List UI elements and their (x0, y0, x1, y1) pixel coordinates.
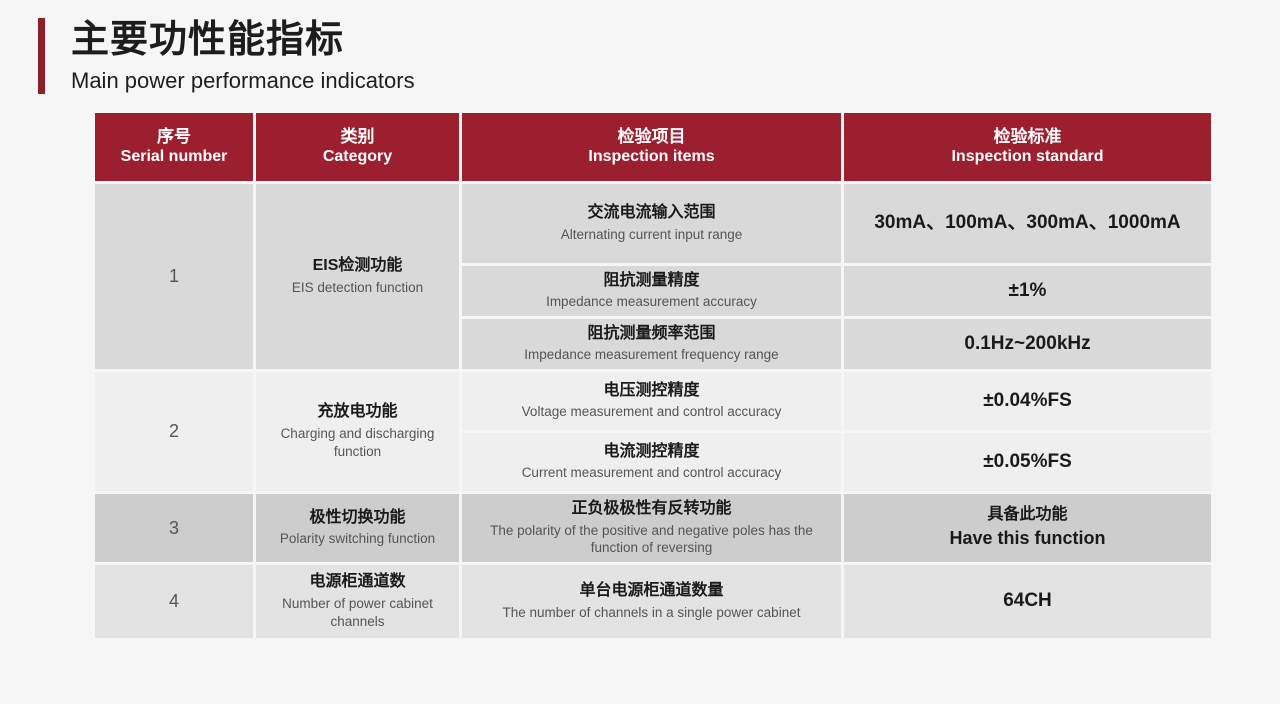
cell-category: EIS检测功能EIS detection function (256, 184, 459, 369)
table-row: 1EIS检测功能EIS detection function交流电流输入范围Al… (95, 184, 1205, 369)
column-header-items-cn: 检验项目 (618, 126, 686, 147)
cell-inspection-standard: 30mA、100mA、300mA、1000mA (844, 184, 1211, 263)
cell-category: 充放电功能Charging and discharging function (256, 372, 459, 491)
indicators-table: 序号 Serial number 类别 Category 检验项目 Inspec… (95, 113, 1205, 638)
table-subrow: 电压测控精度Voltage measurement and control ac… (462, 372, 1211, 430)
cell-standard-value: 30mA、100mA、300mA、1000mA (874, 211, 1180, 236)
cell-category-en: Charging and discharging function (266, 425, 449, 461)
cell-category-en: EIS detection function (292, 279, 423, 297)
cell-serial: 2 (95, 372, 253, 491)
cell-serial: 1 (95, 184, 253, 369)
cell-standard-en: Have this function (949, 527, 1105, 550)
cell-serial: 3 (95, 494, 253, 562)
cell-inspection-item: 电流测控精度Current measurement and control ac… (462, 433, 841, 491)
column-header-standard-cn: 检验标准 (994, 126, 1062, 147)
cell-inspection-item-en: The polarity of the positive and negativ… (472, 522, 831, 558)
cell-inspection-item-en: The number of channels in a single power… (503, 604, 801, 622)
table-row: 4电源柜通道数Number of power cabinet channels单… (95, 565, 1205, 638)
cell-inspection-item-cn: 正负极极性有反转功能 (571, 499, 731, 520)
cell-serial: 4 (95, 565, 253, 638)
cell-inspection-item-cn: 电压测控精度 (603, 381, 699, 402)
cell-category-cn: EIS检测功能 (313, 256, 403, 277)
column-header-category-cn: 类别 (341, 126, 375, 147)
column-header-items-en: Inspection items (588, 147, 714, 168)
cell-inspection-item-en: Voltage measurement and control accuracy (522, 403, 782, 421)
cell-standard-value: ±0.04%FS (983, 389, 1072, 414)
row-subgroup: 交流电流输入范围Alternating current input range3… (462, 184, 1211, 369)
cell-inspection-standard: ±0.05%FS (844, 433, 1211, 491)
column-header-items: 检验项目 Inspection items (462, 113, 841, 181)
table-row: 2充放电功能Charging and discharging function电… (95, 372, 1205, 491)
table-subrow: 阻抗测量频率范围Impedance measurement frequency … (462, 319, 1211, 369)
cell-inspection-item-en: Alternating current input range (561, 226, 743, 244)
table-subrow: 正负极极性有反转功能The polarity of the positive a… (462, 494, 1211, 562)
cell-inspection-standard: ±0.04%FS (844, 372, 1211, 430)
column-header-standard: 检验标准 Inspection standard (844, 113, 1211, 181)
table-subrow: 单台电源柜通道数量The number of channels in a sin… (462, 565, 1211, 638)
row-subgroup: 正负极极性有反转功能The polarity of the positive a… (462, 494, 1211, 562)
page-title: 主要功性能指标 (71, 18, 415, 63)
cell-inspection-item-cn: 电流测控精度 (603, 442, 699, 463)
cell-inspection-item-en: Impedance measurement frequency range (524, 346, 778, 364)
column-header-standard-en: Inspection standard (951, 147, 1103, 168)
row-subgroup: 电压测控精度Voltage measurement and control ac… (462, 372, 1211, 491)
cell-inspection-standard: ±1% (844, 266, 1211, 316)
cell-inspection-item-en: Impedance measurement accuracy (546, 293, 757, 311)
cell-inspection-item: 阻抗测量频率范围Impedance measurement frequency … (462, 319, 841, 369)
cell-category-cn: 极性切换功能 (309, 508, 405, 529)
cell-inspection-standard: 具备此功能Have this function (844, 494, 1211, 562)
column-header-serial: 序号 Serial number (95, 113, 253, 181)
cell-standard-value: 64CH (1003, 589, 1052, 614)
cell-inspection-item-cn: 交流电流输入范围 (587, 203, 715, 224)
cell-inspection-item: 交流电流输入范围Alternating current input range (462, 184, 841, 263)
cell-category: 电源柜通道数Number of power cabinet channels (256, 565, 459, 638)
column-header-serial-en: Serial number (121, 147, 228, 168)
title-texts: 主要功性能指标 Main power performance indicator… (71, 18, 415, 94)
cell-inspection-item: 电压测控精度Voltage measurement and control ac… (462, 372, 841, 430)
cell-inspection-item: 单台电源柜通道数量The number of channels in a sin… (462, 565, 841, 638)
cell-inspection-item: 阻抗测量精度Impedance measurement accuracy (462, 266, 841, 316)
page-title-block: 主要功性能指标 Main power performance indicator… (38, 18, 415, 94)
cell-inspection-standard: 64CH (844, 565, 1211, 638)
row-subgroup: 单台电源柜通道数量The number of channels in a sin… (462, 565, 1211, 638)
cell-standard-cn: 具备此功能 (987, 505, 1067, 526)
column-header-category: 类别 Category (256, 113, 459, 181)
cell-inspection-standard: 0.1Hz~200kHz (844, 319, 1211, 369)
slide-root: 主要功性能指标 Main power performance indicator… (0, 0, 1280, 704)
cell-category-cn: 充放电功能 (317, 402, 397, 423)
table-row: 3极性切换功能Polarity switching function正负极极性有… (95, 494, 1205, 562)
column-header-category-en: Category (323, 147, 392, 168)
cell-inspection-item-en: Current measurement and control accuracy (522, 464, 782, 482)
cell-category-en: Polarity switching function (280, 530, 435, 548)
cell-standard-value: ±0.05%FS (983, 450, 1072, 475)
table-subrow: 阻抗测量精度Impedance measurement accuracy±1% (462, 266, 1211, 316)
column-header-serial-cn: 序号 (157, 126, 191, 147)
table-subrow: 交流电流输入范围Alternating current input range3… (462, 184, 1211, 263)
cell-inspection-item-cn: 单台电源柜通道数量 (579, 581, 723, 602)
page-subtitle: Main power performance indicators (71, 67, 415, 95)
cell-inspection-item-cn: 阻抗测量频率范围 (587, 324, 715, 345)
table-subrow: 电流测控精度Current measurement and control ac… (462, 433, 1211, 491)
cell-inspection-item-cn: 阻抗测量精度 (603, 271, 699, 292)
cell-category-cn: 电源柜通道数 (309, 572, 405, 593)
cell-standard-value: ±1% (1009, 279, 1047, 304)
cell-category: 极性切换功能Polarity switching function (256, 494, 459, 562)
title-accent-bar (38, 18, 45, 94)
cell-inspection-item: 正负极极性有反转功能The polarity of the positive a… (462, 494, 841, 562)
cell-category-en: Number of power cabinet channels (266, 595, 449, 631)
table-body: 1EIS检测功能EIS detection function交流电流输入范围Al… (95, 184, 1205, 638)
cell-standard-value: 0.1Hz~200kHz (964, 332, 1090, 357)
table-header-row: 序号 Serial number 类别 Category 检验项目 Inspec… (95, 113, 1205, 181)
